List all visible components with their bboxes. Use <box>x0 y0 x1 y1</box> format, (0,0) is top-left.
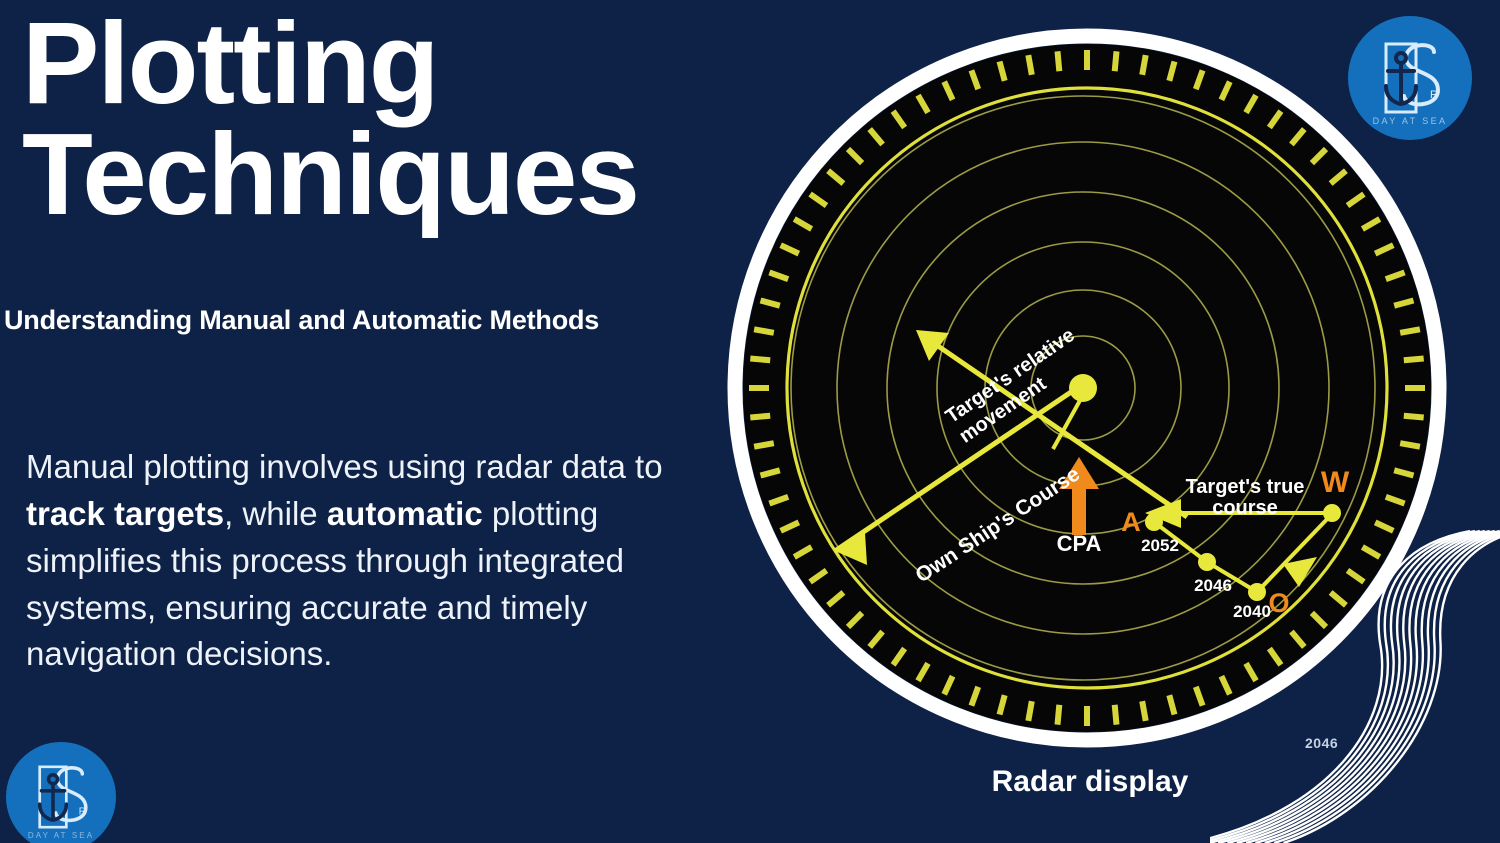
logo-top-right[interactable]: R DAY AT SEA <box>1348 16 1472 140</box>
body-emphasis-1: track targets <box>26 495 224 532</box>
text-column: Plotting Techniques Understanding Manual… <box>0 0 740 843</box>
marker-time-2046: 2046 <box>1194 576 1232 595</box>
marker-dot-a <box>1145 513 1163 531</box>
logo-registered-mark: R <box>1430 89 1438 101</box>
marker-letter-o: O <box>1268 588 1289 618</box>
logo-tagline-2: DAY AT SEA <box>28 831 94 840</box>
body-emphasis-2: automatic <box>327 495 483 532</box>
radar-caption: Radar display <box>905 765 1275 799</box>
body-segment-2: , while <box>224 495 327 532</box>
slide-root: Plotting Techniques Understanding Manual… <box>0 0 1500 843</box>
radar-display: CPA Target's relative movement Own Ship'… <box>717 17 1457 757</box>
marker-dot-o <box>1248 583 1266 601</box>
marker-time-2052: 2052 <box>1141 536 1179 555</box>
title-line-2: Techniques <box>22 119 742 230</box>
page-subtitle: Understanding Manual and Automatic Metho… <box>4 305 734 336</box>
radar-svg: CPA Target's relative movement Own Ship'… <box>717 17 1457 757</box>
marker-dot-w <box>1323 504 1341 522</box>
logo-tagline: DAY AT SEA <box>1373 116 1448 126</box>
logo-mark-icon-2: R DAY AT SEA <box>6 742 116 843</box>
label-targets-true-course-line2: course <box>1212 497 1278 519</box>
label-cpa: CPA <box>1057 531 1102 556</box>
logo-registered-mark-2: R <box>79 807 86 818</box>
body-paragraph: Manual plotting involves using radar dat… <box>26 444 716 678</box>
logo-bottom-left[interactable]: R DAY AT SEA <box>6 742 116 843</box>
marker-time-2040: 2040 <box>1233 602 1271 621</box>
anchor-icon-2 <box>40 775 67 820</box>
title-line-1: Plotting <box>22 8 742 119</box>
corner-number: 2046 <box>1305 735 1338 751</box>
marker-letter-w: W <box>1321 466 1350 499</box>
page-title: Plotting Techniques <box>22 8 742 231</box>
marker-letter-a: A <box>1121 507 1141 537</box>
body-segment-1: Manual plotting involves using radar dat… <box>26 448 663 485</box>
own-ship-dot <box>1069 374 1097 402</box>
anchor-icon <box>1386 53 1416 104</box>
label-targets-true-course-line1: Target's true <box>1186 476 1305 498</box>
logo-mark-icon: R DAY AT SEA <box>1348 16 1472 140</box>
marker-dot-2046 <box>1198 553 1216 571</box>
